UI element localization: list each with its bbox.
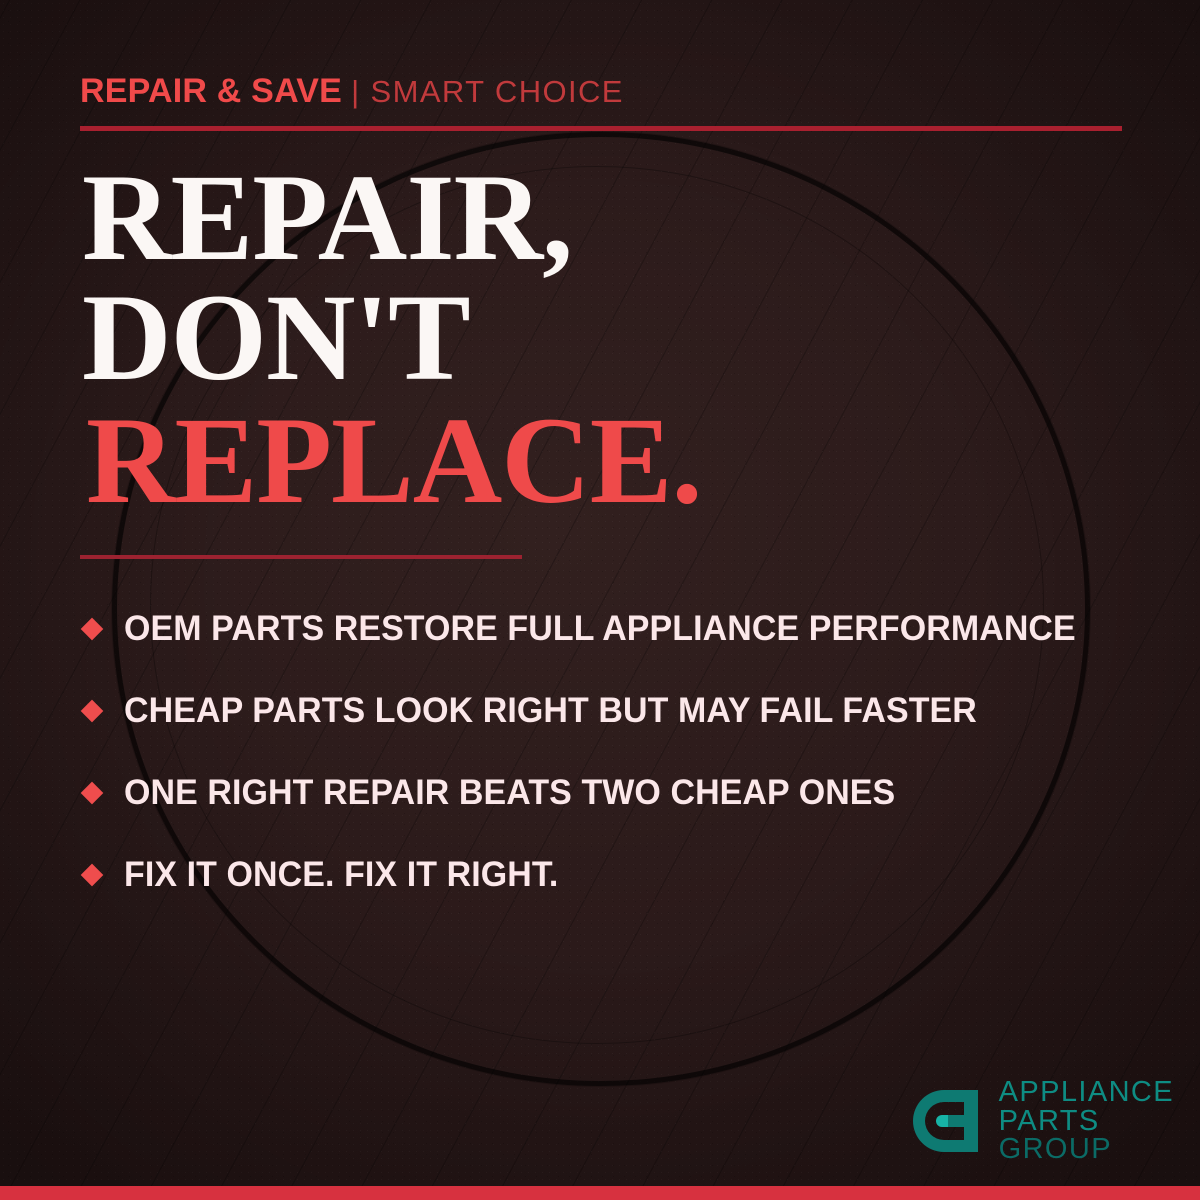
kicker: REPAIR & SAVE| SMART CHOICE — [80, 74, 624, 108]
list-item-label: CHEAP PARTS LOOK RIGHT BUT MAY FAIL FAST… — [124, 691, 977, 731]
list-item: FIX IT ONCE. FIX IT RIGHT. — [80, 834, 1150, 916]
brand-logo-line-3: GROUP — [999, 1135, 1174, 1164]
brand-logo-wordmark: APPLIANCE PARTS GROUP — [999, 1078, 1174, 1164]
kicker-light-label: | SMART CHOICE — [351, 74, 624, 109]
kicker-strong-label: REPAIR & SAVE — [80, 72, 342, 110]
poster-canvas: REPAIR & SAVE| SMART CHOICE REPAIR, DON'… — [0, 0, 1200, 1200]
diamond-bullet-icon — [81, 618, 104, 641]
list-item: CHEAP PARTS LOOK RIGHT BUT MAY FAIL FAST… — [80, 670, 1150, 752]
headline-line-2: DON'T — [82, 278, 702, 398]
headline-divider-rule — [80, 555, 522, 559]
brand-logo: APPLIANCE PARTS GROUP — [908, 1078, 1174, 1164]
list-item-label: FIX IT ONCE. FIX IT RIGHT. — [124, 855, 558, 895]
letter-g-logo-icon — [908, 1082, 986, 1160]
diamond-bullet-icon — [81, 864, 104, 887]
diamond-bullet-icon — [81, 700, 104, 723]
headline-line-1: REPAIR, — [82, 158, 702, 278]
page-title: REPAIR, DON'T REPLACE. — [82, 158, 702, 521]
headline-line-3-accent: REPLACE. — [86, 401, 702, 521]
benefit-list: OEM PARTS RESTORE FULL APPLIANCE PERFORM… — [80, 588, 1150, 916]
list-item-label: OEM PARTS RESTORE FULL APPLIANCE PERFORM… — [124, 609, 1076, 649]
list-item: ONE RIGHT REPAIR BEATS TWO CHEAP ONES — [80, 752, 1150, 834]
bottom-accent-bar — [0, 1186, 1200, 1200]
brand-logo-line-1: APPLIANCE — [999, 1078, 1174, 1107]
brand-logo-line-2: PARTS — [999, 1107, 1174, 1136]
diamond-bullet-icon — [81, 782, 104, 805]
list-item: OEM PARTS RESTORE FULL APPLIANCE PERFORM… — [80, 588, 1150, 670]
header-divider-rule — [80, 126, 1122, 131]
list-item-label: ONE RIGHT REPAIR BEATS TWO CHEAP ONES — [124, 773, 895, 813]
poster-content: REPAIR & SAVE| SMART CHOICE REPAIR, DON'… — [0, 0, 1200, 1200]
